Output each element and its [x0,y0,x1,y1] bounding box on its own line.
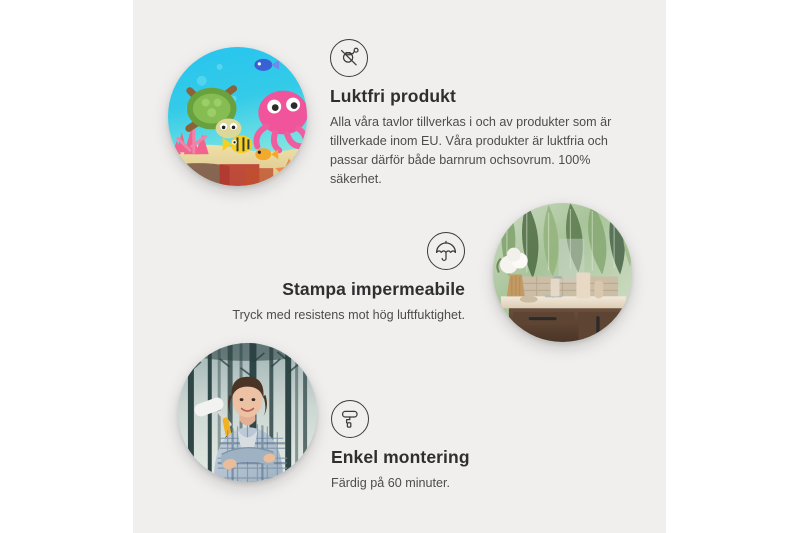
feature-title: Enkel montering [331,447,581,469]
sea-life-underwater-photo [168,47,307,186]
umbrella-icon [427,232,465,270]
painter-forest-wallpaper-photo [178,343,317,482]
bathroom-vanity-photo [493,203,632,342]
feature-odorless: Luktfri produkt Alla våra tavlor tillver… [330,39,622,189]
paint-roller-icon [331,400,369,438]
feature-title: Stampa impermeabile [180,279,465,301]
feature-body: Alla våra tavlor tillverkas i och av pro… [330,113,622,190]
feature-title: Luktfri produkt [330,86,622,108]
no-odor-spray-bottle-icon [330,39,368,77]
feature-body: Färdig på 60 minuter. [331,474,581,493]
promo-banner: Luktfri produkt Alla våra tavlor tillver… [0,0,800,533]
feature-body: Tryck med resistens mot hög luftfuktighe… [180,306,465,325]
feature-assembly: Enkel montering Färdig på 60 minuter. [331,400,581,493]
feature-waterproof: Stampa impermeabile Tryck med resistens … [180,232,465,325]
